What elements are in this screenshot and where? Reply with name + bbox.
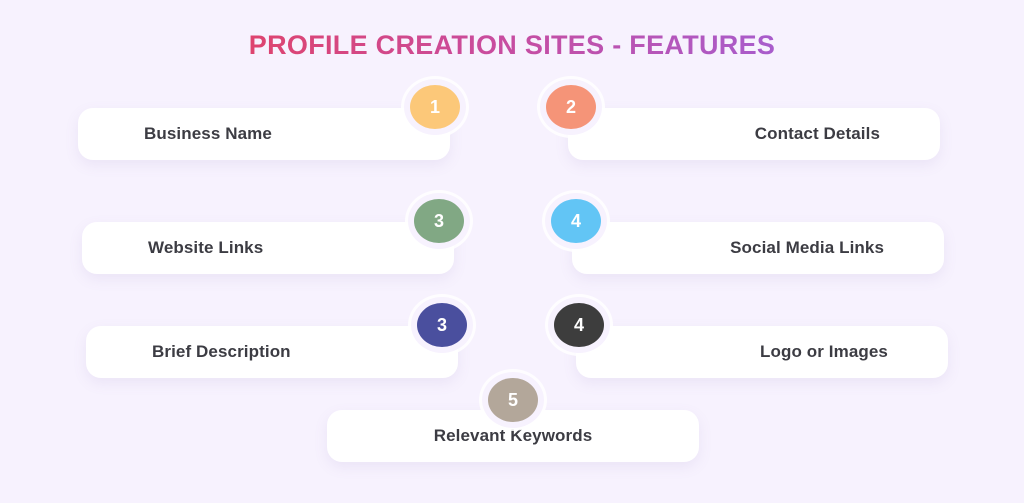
badge-number: 2 [566, 98, 576, 116]
feature-label: Business Name [144, 124, 272, 144]
feature-card-business-name[interactable]: Business Name [78, 108, 450, 160]
badge-number: 3 [437, 316, 447, 334]
feature-badge-3: 3 [414, 199, 464, 243]
feature-card-logo-or-images[interactable]: Logo or Images [576, 326, 948, 378]
feature-label: Relevant Keywords [434, 426, 593, 446]
feature-badge-5: 3 [417, 303, 467, 347]
feature-label: Website Links [148, 238, 263, 258]
badge-number: 3 [434, 212, 444, 230]
feature-badge-7: 5 [488, 378, 538, 422]
feature-card-brief-description[interactable]: Brief Description [86, 326, 458, 378]
feature-badge-6: 4 [554, 303, 604, 347]
feature-card-website-links[interactable]: Website Links [82, 222, 454, 274]
feature-card-contact-details[interactable]: Contact Details [568, 108, 940, 160]
infographic-canvas: PROFILE CREATION SITES - FEATURES Busine… [0, 0, 1024, 503]
feature-badge-2: 2 [546, 85, 596, 129]
badge-number: 5 [508, 391, 518, 409]
page-title: PROFILE CREATION SITES - FEATURES [0, 28, 1024, 62]
feature-label: Brief Description [152, 342, 291, 362]
feature-label: Logo or Images [760, 342, 888, 362]
feature-label: Social Media Links [730, 238, 884, 258]
feature-card-social-media-links[interactable]: Social Media Links [572, 222, 944, 274]
feature-badge-4: 4 [551, 199, 601, 243]
feature-label: Contact Details [755, 124, 880, 144]
feature-badge-1: 1 [410, 85, 460, 129]
badge-number: 4 [571, 212, 581, 230]
badge-number: 4 [574, 316, 584, 334]
badge-number: 1 [430, 98, 440, 116]
